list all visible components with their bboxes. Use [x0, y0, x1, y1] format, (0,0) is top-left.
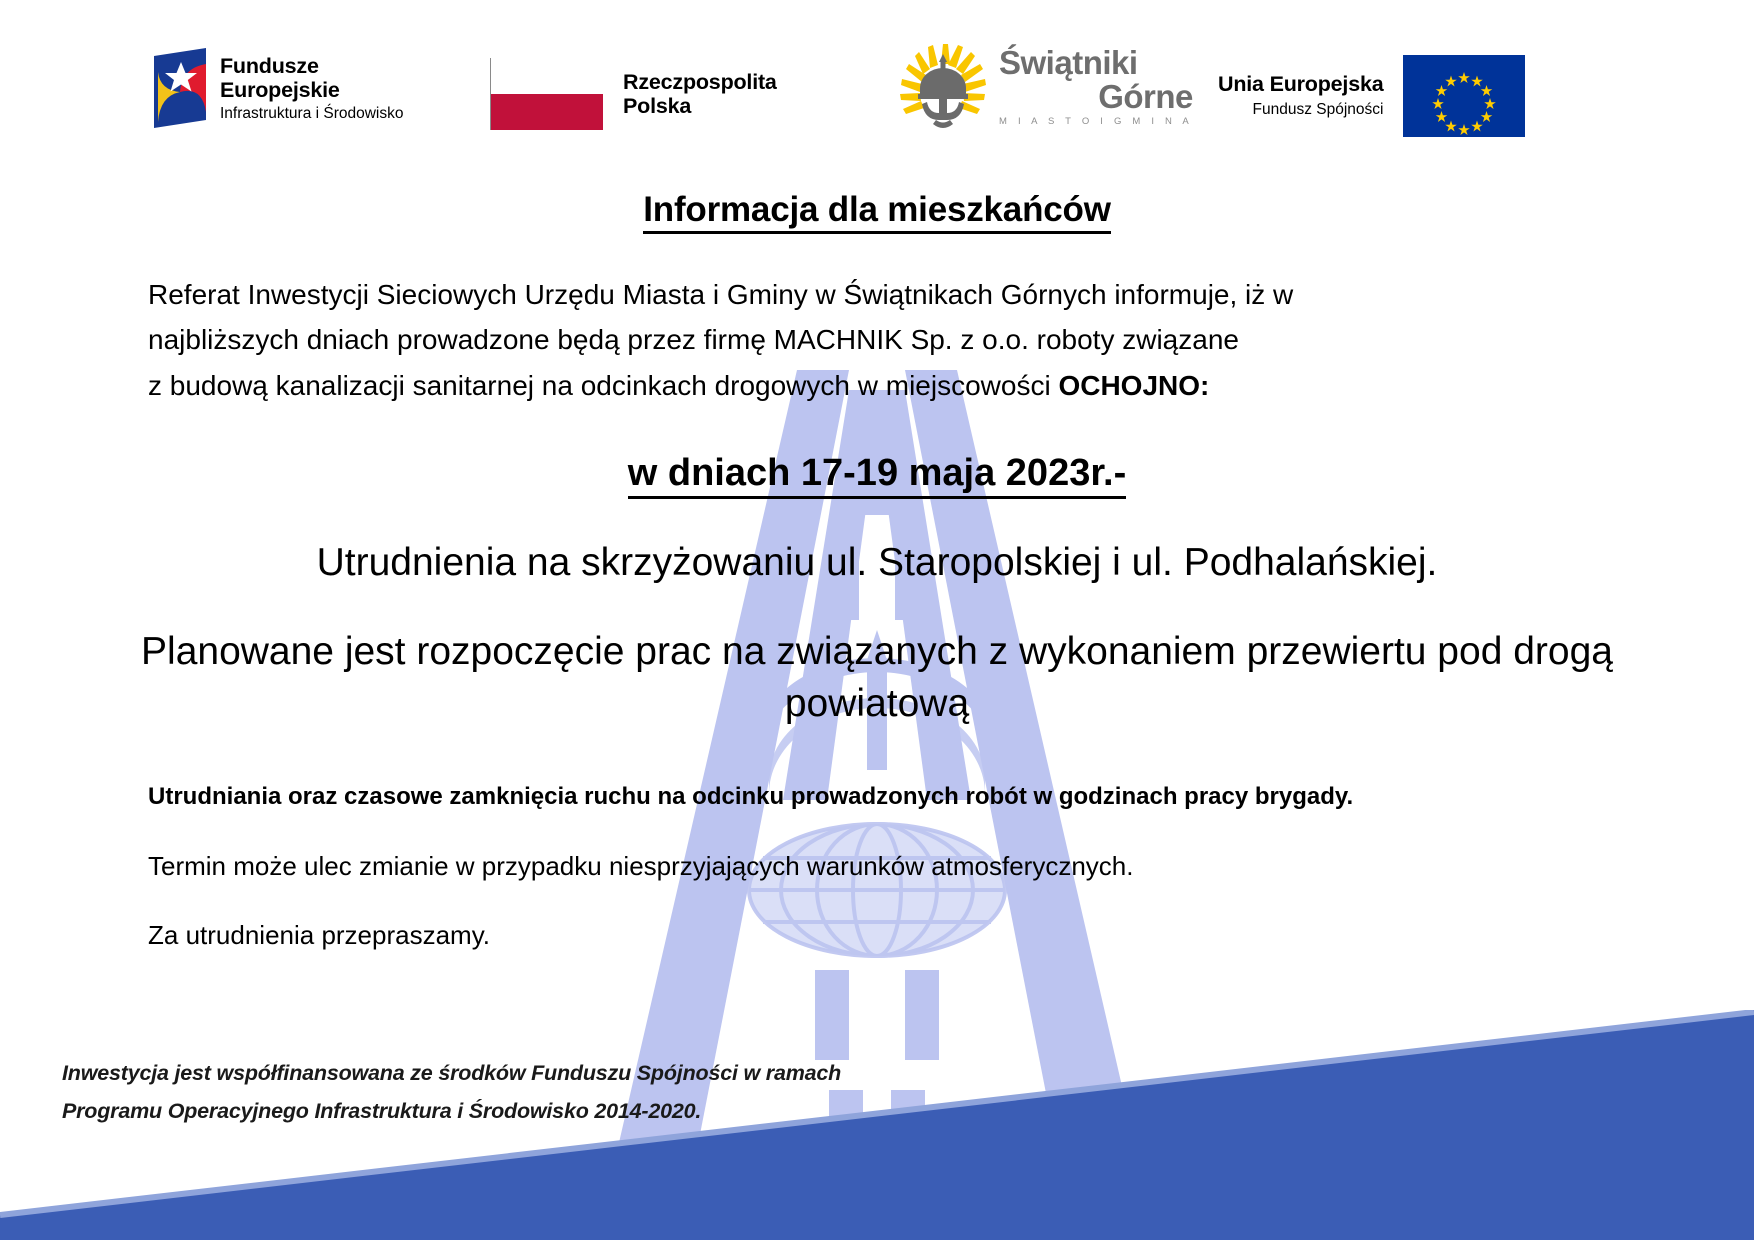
logo-unia-europejska: Unia Europejska Fundusz Spójności [1218, 55, 1525, 137]
apology-notice: Za utrudnienia przepraszamy. [148, 916, 1606, 955]
works-date-text: w dniach 17-19 maja 2023r.- [628, 452, 1127, 499]
planned-works-line: Planowane jest rozpoczęcie prac na związ… [110, 626, 1644, 731]
footnote-line-2: Programu Operacyjnego Infrastruktura i Ś… [62, 1093, 841, 1131]
eu-funding-footnote: Inwestycja jest współfinansowana ze środ… [62, 1055, 841, 1130]
rp-line2: Polska [623, 94, 777, 119]
intro-line-1: Referat Inwestycji Sieciowych Urzędu Mia… [148, 272, 1606, 317]
intro-paragraph: Referat Inwestycji Sieciowych Urzędu Mia… [148, 272, 1606, 408]
page-title-text: Informacja dla mieszkańców [643, 190, 1110, 234]
intro-line-3: z budową kanalizacji sanitarnej na odcin… [148, 363, 1606, 408]
intro-line-3-text: z budową kanalizacji sanitarnej na odcin… [148, 370, 1058, 401]
sg-subtitle: M I A S T O I G M I N A [999, 116, 1193, 127]
fe-line1: Fundusze [220, 54, 404, 78]
weather-notice: Termin może ulec zmianie w przypadku nie… [148, 847, 1606, 886]
disruption-location-line: Utrudnienia na skrzyżowaniu ul. Staropol… [110, 537, 1644, 590]
ue-line2: Fundusz Spójności [1218, 101, 1383, 120]
poster-page: Fundusze Europejskie Infrastruktura i Śr… [0, 0, 1754, 1240]
rp-line1: Rzeczpospolita [623, 70, 777, 95]
fe-line3: Infrastruktura i Środowisko [220, 105, 404, 122]
logo-fundusze-europejskie: Fundusze Europejskie Infrastruktura i Śr… [148, 48, 404, 128]
european-union-flag-icon [1403, 55, 1525, 137]
fundusze-europejskie-icon [148, 48, 206, 128]
sg-line2: Górne [999, 80, 1193, 114]
traffic-closure-notice: Utrudniania oraz czasowe zamknięcia ruch… [148, 779, 1606, 815]
logo-rzeczpospolita-polska: Rzeczpospolita Polska [490, 58, 777, 130]
intro-line-2: najbliższych dniach prowadzone będą prze… [148, 317, 1606, 362]
fe-line2: Europejskie [220, 78, 404, 102]
ue-line1: Unia Europejska [1218, 72, 1383, 98]
header-logo-bar: Fundusze Europejskie Infrastruktura i Śr… [0, 0, 1754, 175]
footnote-line-1: Inwestycja jest współfinansowana ze środ… [62, 1055, 841, 1093]
logo-swiatniki-gorne: Świątniki Górne M I A S T O I G M I N A [895, 40, 1193, 136]
polish-flag-icon [490, 58, 603, 130]
works-date-line: w dniach 17-19 maja 2023r.- [0, 452, 1754, 495]
location-name: OCHOJNO: [1058, 370, 1209, 401]
swiatniki-gorne-crest-icon [895, 40, 991, 136]
sg-line1: Świątniki [999, 46, 1193, 80]
